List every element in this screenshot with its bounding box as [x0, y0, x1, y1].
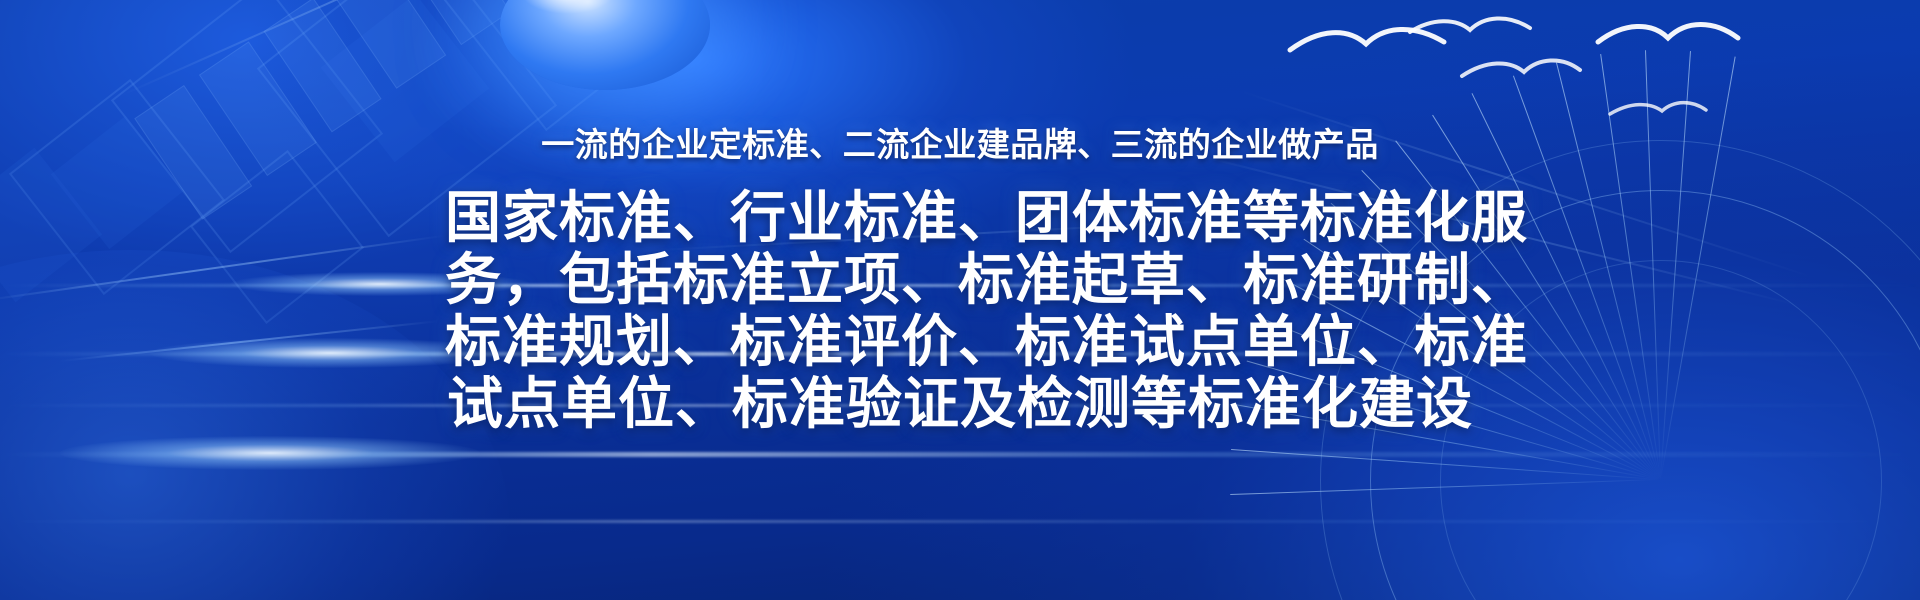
banner-body-line-3: 标准规划、标准评价、标准试点单位、标准 [445, 312, 1475, 374]
banner-body-line-1: 国家标准、行业标准、团体标准等标准化服 [445, 188, 1475, 250]
banner-headline: 一流的企业定标准、二流企业建品牌、三流的企业做产品 [541, 118, 1379, 166]
banner-body-line-2: 务，包括标准立项、标准起草、标准研制、 [445, 250, 1475, 312]
banner-body-line-4: 试点单位、标准验证及检测等标准化建设 [445, 374, 1475, 436]
banner-body: 国家标准、行业标准、团体标准等标准化服 务，包括标准立项、标准起草、标准研制、 … [445, 188, 1475, 436]
banner-content: 一流的企业定标准、二流企业建品牌、三流的企业做产品 国家标准、行业标准、团体标准… [0, 0, 1920, 600]
promo-banner: 一流的企业定标准、二流企业建品牌、三流的企业做产品 国家标准、行业标准、团体标准… [0, 0, 1920, 600]
